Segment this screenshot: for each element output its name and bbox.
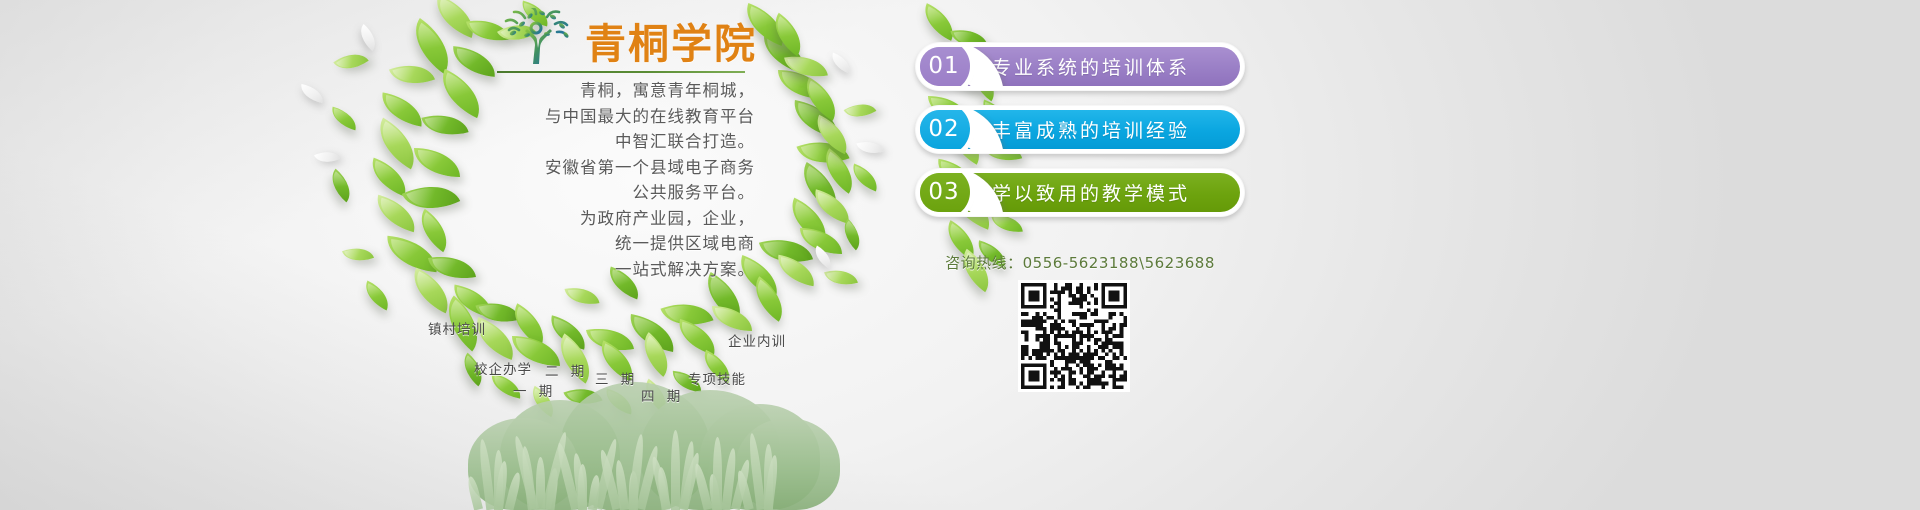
leaf-shape [359,281,394,311]
banner-stage: 青桐学院 青桐，寓意青年桐城，与中国最大的在线教育平台中智汇联合打造。安徽省第一… [0,0,1920,510]
hotline-text: 咨询热线：0556-5623188\5623688 [915,252,1245,273]
grass-blade [578,464,587,510]
brand-name: 青桐学院 [585,22,757,66]
badge-number-03: 03 [920,173,970,212]
feature-badge-list: 01 专业系统的培训体系 02 丰富成熟的培训经验 03 学以致用的教学模式 [915,42,1245,231]
leaf-shape [836,219,868,251]
leaf-shape [848,163,883,191]
term-label-3: 三 期 [595,368,638,388]
leaf-shape [856,137,883,158]
leaf-shape [314,146,340,168]
leaf-shape [712,306,752,331]
intro-line-6: 为政府产业园，企业， [455,206,755,232]
badge-number-01: 01 [920,47,970,86]
badge-label-03: 学以致用的教学模式 [992,179,1190,206]
leaf-shape [565,283,600,308]
grass-blade [713,437,722,510]
badge-number-02: 02 [920,110,970,149]
term-label-2: 二 期 [545,360,588,380]
bottom-label-2: 企业内训 [728,330,786,350]
leaf-shape [333,45,368,78]
brand-logo: 青桐学院 [497,8,757,73]
intro-line-8: 一站式解决方案。 [455,257,755,283]
bottom-label-3: 校企办学 [474,358,532,378]
grass-blade [671,430,680,510]
leaf-shape [844,96,877,125]
feature-badge-02[interactable]: 02 丰富成熟的培训经验 [915,105,1245,154]
qr-code[interactable] [1018,280,1130,392]
logo-underline-divider [497,71,745,73]
intro-line-3: 中智汇联合打造。 [455,129,755,155]
tree-icon [497,8,575,66]
feature-badge-03[interactable]: 03 学以致用的教学模式 [915,168,1245,217]
leaf-shape [389,56,435,93]
badge-label-02: 丰富成熟的培训经验 [992,116,1190,143]
qr-code-image [1021,283,1127,389]
leaf-shape [299,84,325,103]
leaf-shape [828,53,853,74]
term-label-1: 一 期 [513,380,556,400]
leaf-shape [673,319,720,355]
leaf-shape [328,107,359,131]
intro-paragraph: 青桐，寓意青年桐城，与中国最大的在线教育平台中智汇联合打造。安徽省第一个县域电子… [455,78,755,282]
term-label-4: 四 期 [641,385,684,405]
badge-label-01: 专业系统的培训体系 [992,53,1190,80]
bottom-label-1: 镇村培训 [428,318,486,338]
intro-line-2: 与中国最大的在线教育平台 [455,104,755,130]
leaf-shape [342,242,374,268]
bottom-label-4: 专项技能 [688,368,746,388]
intro-line-1: 青桐，寓意青年桐城， [455,78,755,104]
leaf-shape [323,169,358,203]
feature-badge-01[interactable]: 01 专业系统的培训体系 [915,42,1245,91]
leaf-shape [414,148,460,177]
leaf-shape [451,46,497,77]
intro-line-4: 安徽省第一个县域电子商务 [455,155,755,181]
intro-line-7: 统一提供区域电商 [455,231,755,257]
leaf-shape [354,24,382,51]
intro-line-5: 公共服务平台。 [455,180,755,206]
